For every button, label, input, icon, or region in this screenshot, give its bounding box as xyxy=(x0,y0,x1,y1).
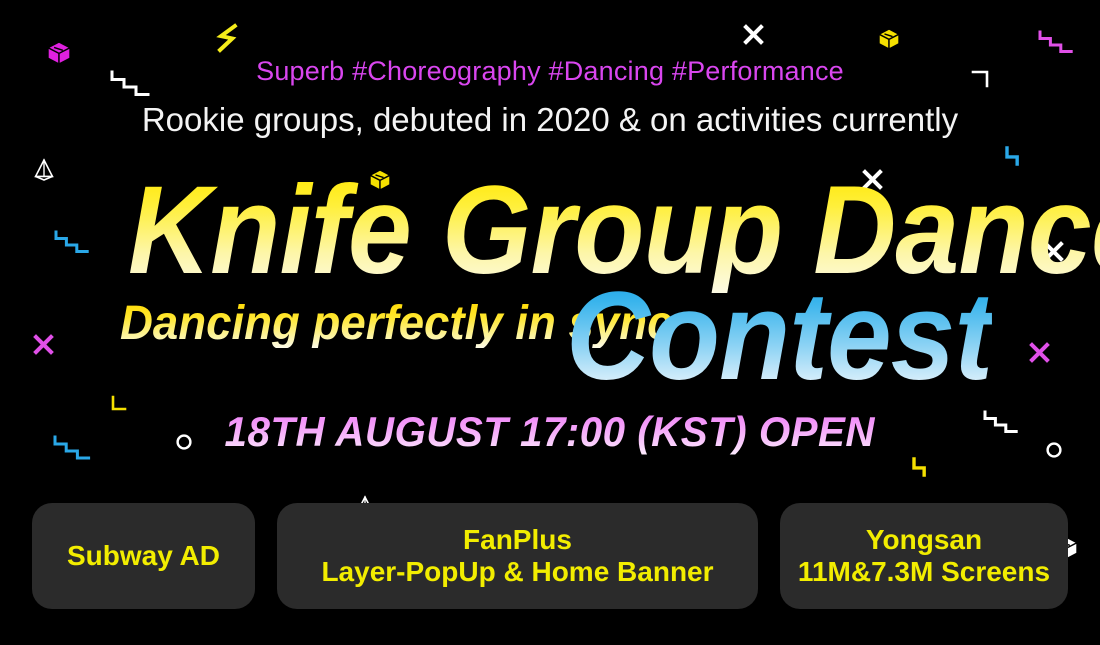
cross-icon xyxy=(745,26,762,43)
info-card-line: FanPlus xyxy=(463,524,572,556)
subtitle-line: Rookie groups, debuted in 2020 & on acti… xyxy=(0,101,1100,139)
stairs-icon xyxy=(1040,32,1073,58)
info-card-fanplus[interactable]: FanPlusLayer-PopUp & Home Banner xyxy=(277,503,758,609)
step-icon xyxy=(913,458,931,476)
title-area: Knife Group Dance Dancing perfectly in s… xyxy=(0,160,1100,400)
info-card-subway[interactable]: Subway AD xyxy=(32,503,255,609)
date-line-text: 18TH AUGUST 17:00 (KST) OPEN xyxy=(225,408,875,456)
zigzag-icon xyxy=(218,26,235,50)
info-card-line: Yongsan xyxy=(866,524,982,556)
promo-poster: Superb #Choreography #Dancing #Performan… xyxy=(0,0,1100,645)
info-card-line: Layer-PopUp & Home Banner xyxy=(321,556,713,588)
info-card-yongsan[interactable]: Yongsan11M&7.3M Screens xyxy=(780,503,1068,609)
title-contest: Contest xyxy=(566,274,992,399)
info-card-line: Subway AD xyxy=(67,540,220,572)
date-line: 18TH AUGUST 17:00 (KST) OPEN xyxy=(0,408,1100,456)
info-card-line: 11M&7.3M Screens xyxy=(798,556,1050,588)
tagline: Superb #Choreography #Dancing #Performan… xyxy=(0,56,1100,87)
info-card-row: Subway AD FanPlusLayer-PopUp & Home Bann… xyxy=(0,503,1100,609)
cube-icon xyxy=(879,29,899,49)
